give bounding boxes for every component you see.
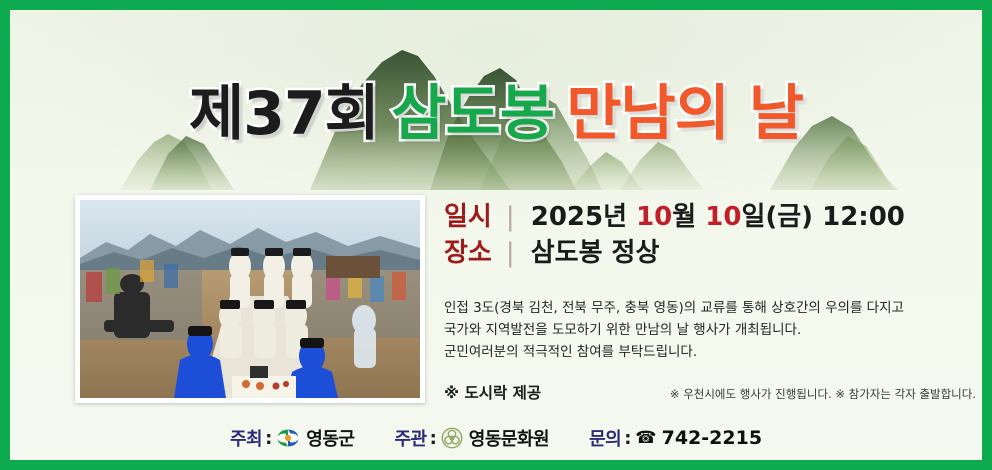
organizer-label: 주관 bbox=[394, 425, 426, 451]
title-edition: 제37회 bbox=[189, 84, 379, 144]
contact-phone: 742-2215 bbox=[662, 427, 762, 449]
date-day-number: 10 bbox=[705, 202, 741, 232]
place-row: 장소 | 삼도봉 정상 bbox=[444, 238, 974, 269]
event-photo-frame bbox=[75, 195, 425, 403]
date-day-unit: 일(금) bbox=[741, 202, 813, 232]
title-event: 만남의 날 bbox=[566, 84, 803, 144]
date-month-number: 10 bbox=[636, 202, 672, 232]
event-details: 일시 | 2025년 10월 10일(금) 12:00 장소 | 삼도봉 정상 bbox=[444, 202, 974, 268]
date-separator: | bbox=[506, 202, 515, 232]
poster-root: 제37회 삼도봉 만남의 날 bbox=[0, 0, 992, 470]
contact-label: 문의 bbox=[589, 425, 621, 451]
host-colon: : bbox=[265, 428, 272, 449]
date-row: 일시 | 2025년 10월 10일(금) 12:00 bbox=[444, 202, 974, 233]
poster-inner: 제37회 삼도봉 만남의 날 bbox=[10, 10, 982, 460]
contact-colon: : bbox=[624, 428, 631, 449]
description-line-1: 인접 3도(경북 김천, 전북 무주, 충북 영동)의 교류를 통해 상호간의 … bbox=[444, 298, 976, 320]
place-label: 장소 bbox=[444, 238, 492, 268]
place-separator: | bbox=[506, 238, 515, 268]
organizer-colon: : bbox=[430, 428, 437, 449]
notes-row: ※ 도시락 제공 ※ 우천시에도 행사가 진행됩니다. ※ 참가자는 각자 출발… bbox=[444, 381, 976, 403]
note-lunch-provided: ※ 도시락 제공 bbox=[444, 381, 541, 403]
host-label: 주최 bbox=[230, 425, 262, 451]
note-conditions: ※ 우천시에도 행사가 진행됩니다. ※ 참가자는 각자 출발합니다. bbox=[670, 386, 976, 402]
place-value: 삼도봉 정상 bbox=[531, 238, 660, 268]
date-month-unit: 월 bbox=[672, 202, 696, 232]
host-name: 영동군 bbox=[306, 425, 354, 451]
footer-host: 주최 : 영동군 bbox=[230, 425, 355, 451]
description-line-2: 국가와 지역발전을 도모하기 위한 만남의 날 행사가 개최됩니다. bbox=[444, 320, 976, 342]
title-place: 삼도봉 bbox=[391, 84, 554, 144]
event-photo bbox=[80, 200, 420, 398]
footer: 주최 : 영동군 주관 : bbox=[10, 425, 982, 451]
telephone-icon: ☎ bbox=[635, 430, 656, 447]
yeongdong-gun-logo-icon bbox=[276, 426, 300, 450]
description-line-3: 군민여러분의 적극적인 참여를 부탁드립니다. bbox=[444, 342, 976, 364]
organizer-name: 영동문화원 bbox=[469, 425, 549, 451]
date-time: 12:00 bbox=[822, 202, 905, 232]
description-text: 인접 3도(경북 김천, 전북 무주, 충북 영동)의 교류를 통해 상호간의 … bbox=[444, 298, 976, 364]
footer-organizer: 주관 : 영동문화원 bbox=[394, 425, 549, 451]
yeongdong-culture-center-logo-icon bbox=[441, 427, 463, 449]
page-title: 제37회 삼도봉 만남의 날 bbox=[10, 84, 982, 144]
date-year: 2025년 bbox=[531, 202, 627, 232]
date-label: 일시 bbox=[444, 202, 492, 232]
footer-contact: 문의 : ☎ 742-2215 bbox=[589, 425, 762, 451]
